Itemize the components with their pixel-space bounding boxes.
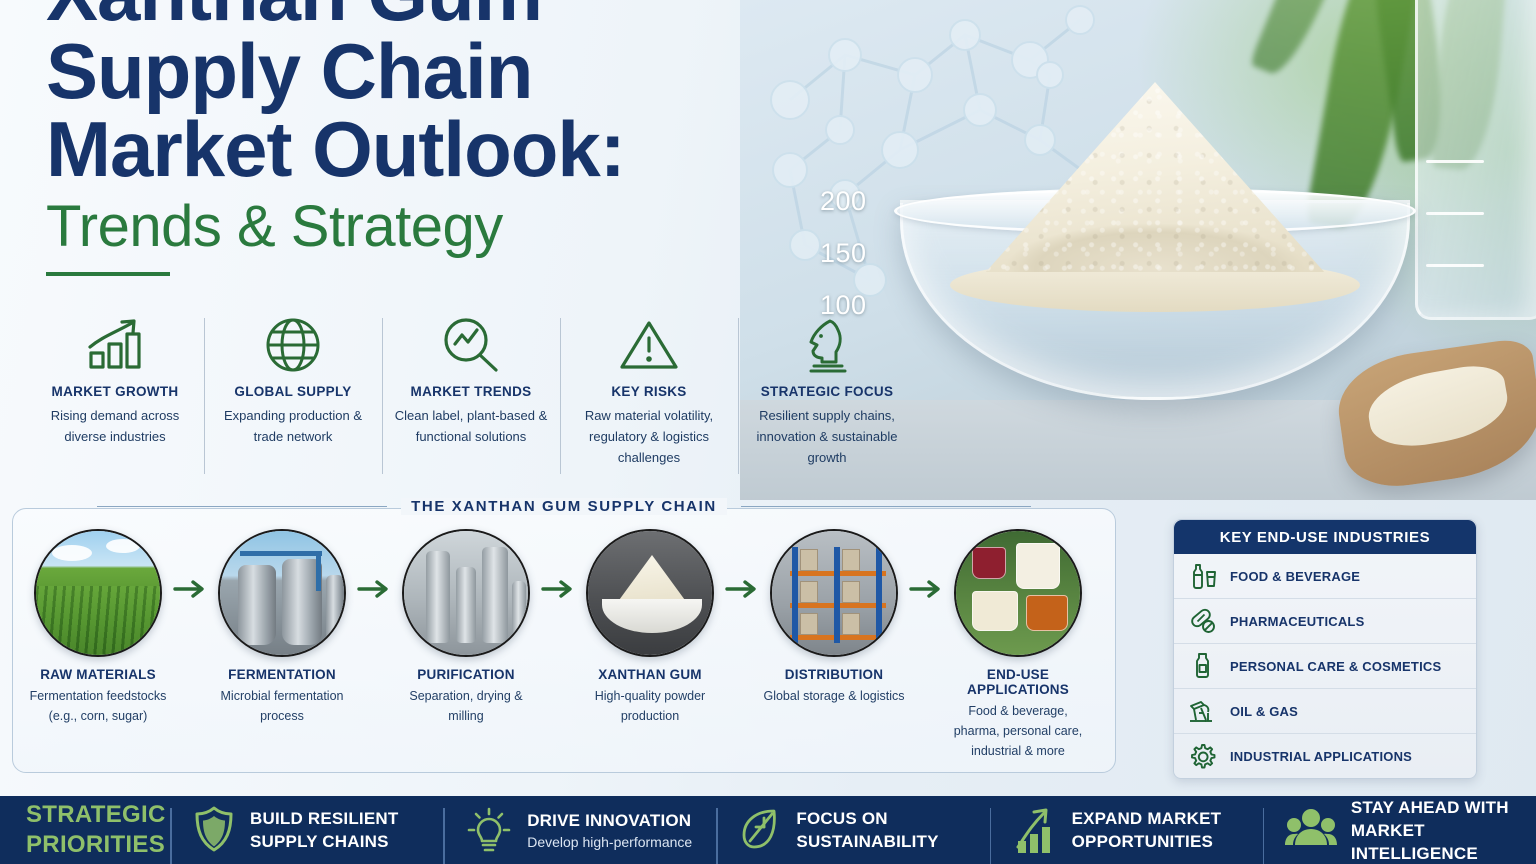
kpi-title: MARKET TRENDS bbox=[390, 384, 552, 399]
priority-drive-innovation[interactable]: DRIVE INNOVATION Develop high-performanc… bbox=[443, 796, 716, 864]
key-end-use-industries-panel: KEY END-USE INDUSTRIES FOOD & BEVERAGE bbox=[1173, 519, 1477, 779]
page-title: Xanthan Gum Supply Chain Market Outlook:… bbox=[46, 0, 746, 276]
kpi-desc: Rising demand across diverse industries bbox=[34, 405, 196, 447]
industry-row-food-beverage[interactable]: FOOD & BEVERAGE bbox=[1174, 554, 1476, 599]
kpi-desc: Clean label, plant-based & functional so… bbox=[390, 405, 552, 447]
corn-field-photo bbox=[34, 529, 162, 657]
step-name: XANTHAN GUM bbox=[579, 667, 721, 682]
priority-heading-line-2: SUSTAINABILITY bbox=[796, 830, 938, 853]
kpi-title: GLOBAL SUPPLY bbox=[212, 384, 374, 399]
priority-heading-line-1: BUILD RESILIENT bbox=[250, 807, 398, 830]
chain-arrow-icon bbox=[721, 529, 763, 599]
industry-row-industrial-applications[interactable]: INDUSTRIAL APPLICATIONS bbox=[1174, 734, 1476, 779]
step-name: RAW MATERIALS bbox=[27, 667, 169, 682]
heading-rule-left bbox=[97, 506, 387, 508]
industries-panel-title: KEY END-USE INDUSTRIES bbox=[1174, 520, 1476, 554]
chain-arrow-icon bbox=[353, 529, 395, 599]
powder-bowl-image bbox=[890, 70, 1410, 400]
kpi-row: MARKET GROWTH Rising demand across diver… bbox=[26, 314, 916, 484]
chain-step-end-use-applications[interactable]: END-USE APPLICATIONS Food & beverage, ph… bbox=[947, 529, 1089, 761]
kpi-desc: Raw material volatility, regulatory & lo… bbox=[568, 405, 730, 468]
step-desc: Separation, drying & milling bbox=[395, 686, 537, 726]
shield-icon bbox=[192, 805, 236, 855]
industry-label: PHARMACEUTICALS bbox=[1230, 614, 1364, 629]
oil-pumpjack-icon bbox=[1188, 697, 1218, 725]
beaker-tick bbox=[1426, 160, 1484, 163]
chain-step-raw-materials[interactable]: RAW MATERIALS Fermentation feedstocks (e… bbox=[27, 529, 169, 726]
priority-build-resilient-supply-chains[interactable]: BUILD RESILIENT SUPPLY CHAINS bbox=[170, 796, 443, 864]
strategic-priorities-title: STRATEGIC PRIORITIES bbox=[0, 800, 170, 860]
title-subtitle: Trends & Strategy bbox=[46, 196, 746, 258]
priority-expand-market-opportunities[interactable]: EXPAND MARKET OPPORTUNITIES bbox=[990, 796, 1263, 864]
kpi-key-risks: KEY RISKS Raw material volatility, regul… bbox=[560, 314, 738, 484]
priority-desc: Develop high-performance bbox=[527, 832, 692, 852]
magnifier-trend-icon bbox=[390, 314, 552, 376]
kpi-market-growth: MARKET GROWTH Rising demand across diver… bbox=[26, 314, 204, 484]
kpi-desc: Resilient supply chains, innovation & su… bbox=[746, 405, 908, 468]
chain-step-purification[interactable]: PURIFICATION Separation, drying & millin… bbox=[395, 529, 537, 726]
beaker-mark-200: 200 bbox=[820, 186, 867, 217]
title-line-3: Market Outlook: bbox=[46, 110, 746, 188]
industry-label: OIL & GAS bbox=[1230, 704, 1298, 719]
infographic-page: 200 150 100 Xanthan Gum Supply Chain Mar… bbox=[0, 0, 1536, 864]
beaker-image bbox=[1415, 0, 1536, 320]
step-desc: Food & beverage, pharma, personal care, … bbox=[947, 701, 1089, 761]
industry-label: FOOD & BEVERAGE bbox=[1230, 569, 1360, 584]
industry-row-personal-care[interactable]: PERSONAL CARE & COSMETICS bbox=[1174, 644, 1476, 689]
step-name: PURIFICATION bbox=[395, 667, 537, 682]
step-desc: Global storage & logistics bbox=[763, 686, 905, 706]
step-name: END-USE APPLICATIONS bbox=[947, 667, 1089, 697]
chess-knight-icon bbox=[746, 314, 908, 376]
kpi-title: KEY RISKS bbox=[568, 384, 730, 399]
purification-plant-photo bbox=[402, 529, 530, 657]
supply-chain-steps: RAW MATERIALS Fermentation feedstocks (e… bbox=[27, 529, 1101, 761]
priority-text: FOCUS ON SUSTAINABILITY bbox=[796, 807, 938, 853]
title-underline bbox=[46, 272, 170, 276]
priority-heading-line-2: SUPPLY CHAINS bbox=[250, 830, 398, 853]
title-line-2: Supply Chain bbox=[46, 32, 746, 110]
chain-arrow-icon bbox=[169, 529, 211, 599]
beaker-mark-150: 150 bbox=[820, 238, 867, 269]
priority-text: DRIVE INNOVATION Develop high-performanc… bbox=[527, 809, 692, 852]
strategic-priorities-bar: STRATEGIC PRIORITIES BUILD RESILIENT SUP… bbox=[0, 796, 1536, 864]
warehouse-photo bbox=[770, 529, 898, 657]
industry-label: INDUSTRIAL APPLICATIONS bbox=[1230, 749, 1412, 764]
step-name: FERMENTATION bbox=[211, 667, 353, 682]
priority-heading-line-1: DRIVE INNOVATION bbox=[527, 809, 692, 832]
applications-photo bbox=[954, 529, 1082, 657]
bar-chart-growth-icon bbox=[34, 314, 196, 376]
kpi-title: MARKET GROWTH bbox=[34, 384, 196, 399]
leaf-icon bbox=[738, 805, 782, 855]
priority-stay-ahead-market-intelligence[interactable]: STAY AHEAD WITH MARKET INTELLIGENCE bbox=[1263, 796, 1536, 864]
chain-step-xanthan-gum[interactable]: XANTHAN GUM High-quality powder producti… bbox=[579, 529, 721, 726]
chain-arrow-icon bbox=[537, 529, 579, 599]
industry-row-oil-gas[interactable]: OIL & GAS bbox=[1174, 689, 1476, 734]
warning-triangle-icon bbox=[568, 314, 730, 376]
industry-row-pharmaceuticals[interactable]: PHARMACEUTICALS bbox=[1174, 599, 1476, 644]
priority-focus-on-sustainability[interactable]: FOCUS ON SUSTAINABILITY bbox=[716, 796, 989, 864]
kpi-market-trends: MARKET TRENDS Clean label, plant-based &… bbox=[382, 314, 560, 484]
growth-arrow-icon bbox=[1012, 805, 1058, 855]
powder-bowl-photo bbox=[586, 529, 714, 657]
heading-rule-right bbox=[741, 506, 1031, 508]
priority-heading-line-1: STAY AHEAD WITH bbox=[1351, 796, 1524, 819]
beaker-tick bbox=[1426, 264, 1484, 267]
supply-chain-title: THE XANTHAN GUM SUPPLY CHAIN bbox=[401, 498, 727, 515]
priority-heading-line-2: OPPORTUNITIES bbox=[1072, 830, 1222, 853]
priority-text: BUILD RESILIENT SUPPLY CHAINS bbox=[250, 807, 398, 853]
kpi-desc: Expanding production & trade network bbox=[212, 405, 374, 447]
cosmetic-bottle-icon bbox=[1188, 652, 1218, 680]
priority-heading-line-1: FOCUS ON bbox=[796, 807, 938, 830]
priority-text: STAY AHEAD WITH MARKET INTELLIGENCE bbox=[1351, 796, 1524, 864]
chain-step-distribution[interactable]: DISTRIBUTION Global storage & logistics bbox=[763, 529, 905, 706]
kpi-strategic-focus: STRATEGIC FOCUS Resilient supply chains,… bbox=[738, 314, 916, 484]
fermentation-tanks-photo bbox=[218, 529, 346, 657]
kpi-global-supply: GLOBAL SUPPLY Expanding production & tra… bbox=[204, 314, 382, 484]
bottle-glass-icon bbox=[1188, 562, 1218, 590]
beaker-tick bbox=[1426, 212, 1484, 215]
step-name: DISTRIBUTION bbox=[763, 667, 905, 682]
globe-icon bbox=[212, 314, 374, 376]
capsule-pill-icon bbox=[1188, 607, 1218, 635]
step-desc: Microbial fermentation process bbox=[211, 686, 353, 726]
priority-heading-line-2: MARKET INTELLIGENCE bbox=[1351, 819, 1524, 864]
chain-step-fermentation[interactable]: FERMENTATION Microbial fermentation proc… bbox=[211, 529, 353, 726]
powder-mound bbox=[975, 82, 1335, 272]
chain-arrow-icon bbox=[905, 529, 947, 599]
industry-label: PERSONAL CARE & COSMETICS bbox=[1230, 659, 1441, 674]
step-desc: Fermentation feedstocks (e.g., corn, sug… bbox=[27, 686, 169, 726]
supply-chain-heading: THE XANTHAN GUM SUPPLY CHAIN bbox=[13, 498, 1115, 515]
priority-text: EXPAND MARKET OPPORTUNITIES bbox=[1072, 807, 1222, 853]
priority-heading-line-1: EXPAND MARKET bbox=[1072, 807, 1222, 830]
people-group-icon bbox=[1285, 805, 1337, 855]
gear-icon bbox=[1188, 743, 1218, 771]
supply-chain-panel: THE XANTHAN GUM SUPPLY CHAIN RAW MATERIA… bbox=[12, 508, 1116, 773]
kpi-title: STRATEGIC FOCUS bbox=[746, 384, 908, 399]
lightbulb-icon bbox=[465, 805, 513, 855]
step-desc: High-quality powder production bbox=[579, 686, 721, 726]
